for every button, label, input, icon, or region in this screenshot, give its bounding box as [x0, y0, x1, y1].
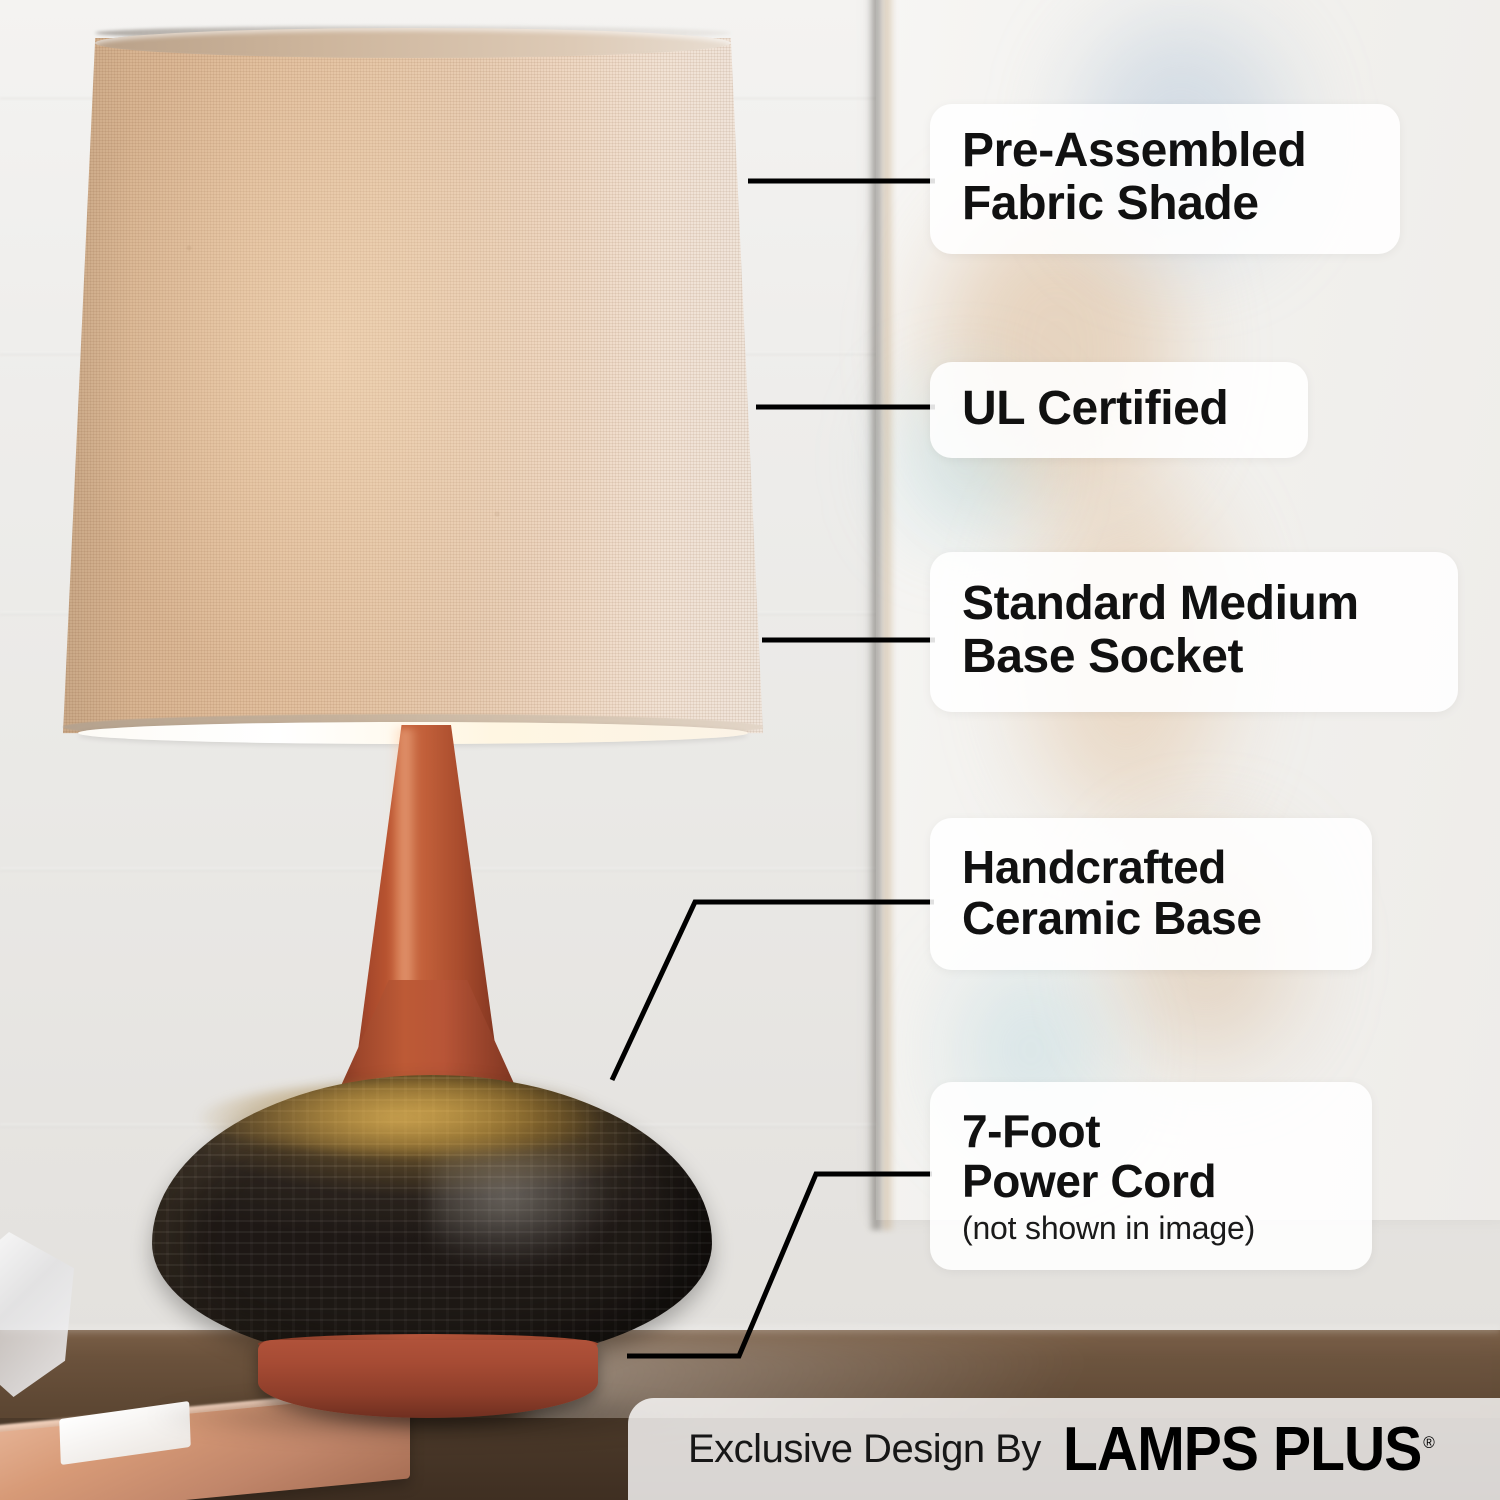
brand-prefix-text: Exclusive Design By [688, 1427, 1041, 1472]
callout-line-2: Fabric Shade [962, 178, 1372, 231]
callout-line-1: 7-Foot [962, 1106, 1344, 1157]
callout-note: (not shown in image) [962, 1211, 1344, 1246]
registered-trademark-icon: ® [1423, 1433, 1434, 1452]
callout-standard-medium-base-socket[interactable]: Standard Medium Base Socket [930, 552, 1458, 712]
callout-7-foot-power-cord[interactable]: 7-Foot Power Cord (not shown in image) [930, 1082, 1372, 1270]
callout-line-2: Ceramic Base [962, 893, 1344, 944]
shade-light-glow [63, 38, 763, 738]
lamps-plus-wordmark: LAMPS PLUS [1063, 1415, 1421, 1484]
shade-top-ellipse [95, 28, 731, 58]
infographic-canvas: Pre-Assembled Fabric Shade UL Certified … [0, 0, 1500, 1500]
callout-line-1: Pre-Assembled [962, 125, 1372, 178]
brand-bar: Exclusive Design By LAMPS PLUS® [628, 1398, 1500, 1500]
callout-ul-certified[interactable]: UL Certified [930, 362, 1308, 458]
callout-line-1: UL Certified [962, 383, 1280, 436]
lamp-foot-ring [258, 1340, 598, 1418]
callout-line-2: Power Cord [962, 1156, 1344, 1207]
ceramic-base-gold-highlight [200, 1082, 630, 1154]
callout-handcrafted-ceramic-base[interactable]: Handcrafted Ceramic Base [930, 818, 1372, 970]
callout-pre-assembled-fabric-shade[interactable]: Pre-Assembled Fabric Shade [930, 104, 1400, 254]
callout-line-1: Standard Medium [962, 578, 1430, 631]
callout-line-2: Base Socket [962, 631, 1430, 684]
lamps-plus-logo[interactable]: LAMPS PLUS® [1063, 1414, 1434, 1485]
callout-line-1: Handcrafted [962, 842, 1344, 893]
ceramic-base-specular [430, 1150, 620, 1270]
fabric-lamp-shade [63, 38, 763, 738]
